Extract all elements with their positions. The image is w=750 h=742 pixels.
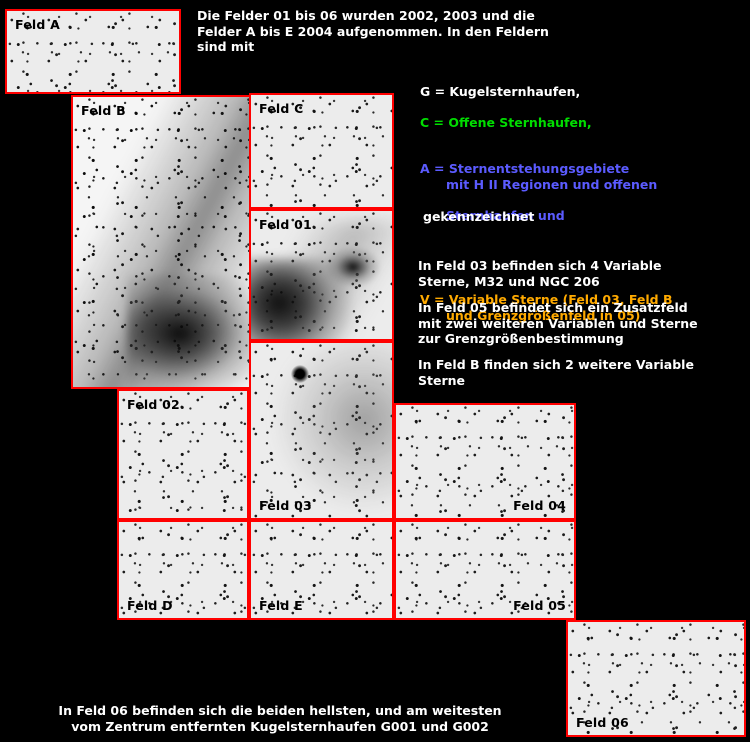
field-label-02: Feld 02 <box>127 397 180 412</box>
field-label-04: Feld 04 <box>513 498 566 513</box>
field-label-E: Feld E <box>259 598 303 613</box>
field-box-01[interactable]: Feld 01 <box>249 209 394 341</box>
field-box-C[interactable]: Feld C <box>249 93 394 209</box>
legend-item-globular-clusters: G = Kugelsternhaufen, <box>420 84 740 100</box>
note-field-05: In Feld 05 befindet sich ein Zusatzfeld … <box>418 300 748 347</box>
legend-a-line1: A = Sternentstehungsgebiete <box>420 161 629 176</box>
legend-marked-text: gekennzeichnet <box>423 209 534 225</box>
bottom-caption: In Feld 06 befinden sich die beiden hell… <box>0 703 560 735</box>
field-box-05[interactable]: Feld 05 <box>394 520 576 620</box>
field-label-C: Feld C <box>259 101 303 116</box>
field-box-04[interactable]: Feld 04 <box>394 403 576 520</box>
field-box-06[interactable]: Feld 06 <box>566 620 746 737</box>
sky-image-B <box>73 97 249 387</box>
field-box-02[interactable]: Feld 02 <box>117 389 249 520</box>
field-label-01: Feld 01 <box>259 217 312 232</box>
note-field-B: In Feld B finden sich 2 weitere Variable… <box>418 357 738 388</box>
legend-a-line2: mit H II Regionen und offenen <box>420 177 740 193</box>
field-box-B[interactable]: Feld B <box>71 95 251 389</box>
legend-item-open-clusters: C = Offene Sternhaufen, <box>420 115 740 131</box>
field-label-05: Feld 05 <box>513 598 566 613</box>
legend-item-star-forming-regions: A = Sternentstehungsgebiete mit H II Reg… <box>420 146 740 239</box>
field-label-06: Feld 06 <box>576 715 629 730</box>
note-field-03: In Feld 03 befinden sich 4 Variable Ster… <box>418 258 738 289</box>
field-label-A: Feld A <box>15 17 60 32</box>
field-label-B: Feld B <box>81 103 126 118</box>
field-box-E[interactable]: Feld E <box>249 520 394 620</box>
sky-image-03 <box>251 343 392 518</box>
field-label-D: Feld D <box>127 598 173 613</box>
intro-text: Die Felder 01 bis 06 wurden 2002, 2003 u… <box>197 8 577 55</box>
field-box-A[interactable]: Feld A <box>5 9 181 94</box>
field-label-03: Feld 03 <box>259 498 312 513</box>
mosaic-canvas: Feld A Feld B Feld C Feld 01 Feld 02 Fel… <box>0 0 750 742</box>
field-box-03[interactable]: Feld 03 <box>249 341 394 520</box>
field-box-D[interactable]: Feld D <box>117 520 249 620</box>
